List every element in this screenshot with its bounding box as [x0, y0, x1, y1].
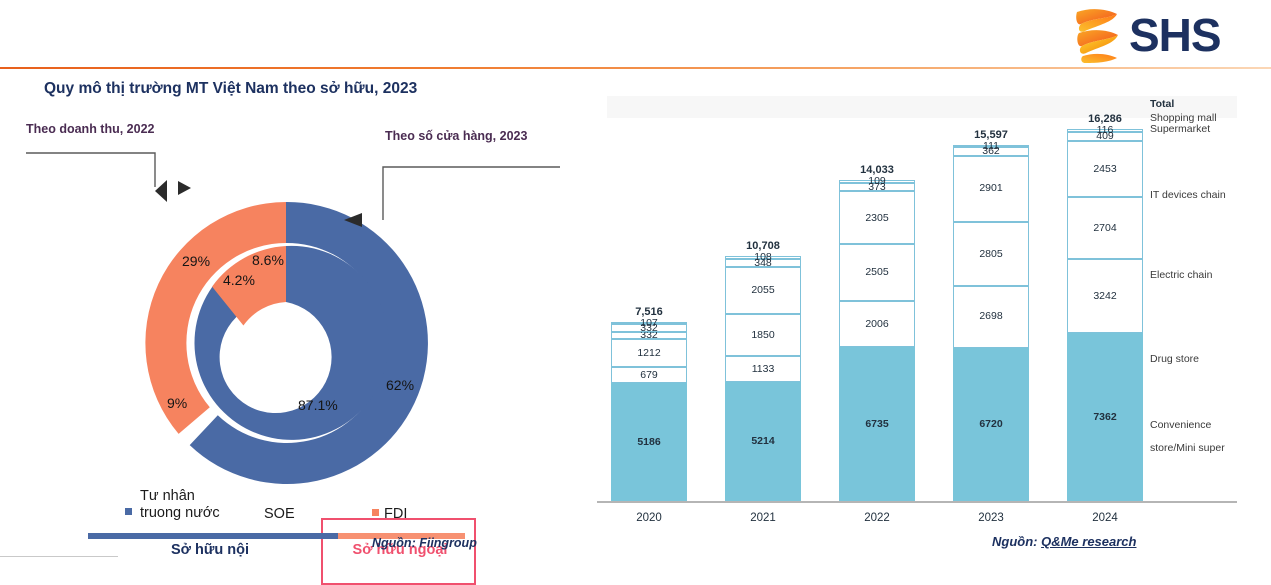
- pct-inner-soe: 4.2%: [223, 272, 255, 288]
- domestic-ownership-bar: [88, 533, 338, 539]
- leader-line-left: [26, 153, 155, 187]
- bar-segment-shopping-mall[interactable]: 116: [1067, 129, 1143, 132]
- bar-segment-electric-chain[interactable]: 2505: [839, 244, 915, 301]
- source-prefix: Nguồn:: [992, 534, 1041, 549]
- legend-private-line2: truong nước: [140, 505, 340, 522]
- bar-segment-value: 2704: [1093, 223, 1116, 234]
- leader-arrow-left-head: [178, 181, 191, 195]
- cat-label-convenience-line1: Convenience: [1150, 420, 1225, 432]
- legend-item-fdi: FDI: [384, 506, 407, 522]
- x-axis-tick-2021: 2021: [725, 512, 801, 524]
- bar-segment-drug-store[interactable]: 679: [611, 367, 687, 383]
- bar-segment-electric-chain[interactable]: 2704: [1067, 197, 1143, 259]
- bar-segment-value: 6735: [865, 419, 888, 430]
- bar-segment-value: 2055: [751, 285, 774, 296]
- bar-segment-value: 111: [983, 141, 999, 152]
- bar-segment-convenience-store-mini-super[interactable]: 6720: [953, 348, 1029, 501]
- bar-segment-value: 5186: [637, 437, 660, 448]
- bar-total-label: 14,033: [839, 164, 915, 176]
- source-link[interactable]: Q&Me research: [1041, 534, 1136, 549]
- donut-chart: 29% 8.6% 4.2% 9% 62% 87.1%: [0, 67, 585, 487]
- left-chart-source: Nguồn: Fiingroup: [372, 536, 477, 550]
- right-chart-source: Nguồn: Q&Me research: [992, 534, 1136, 549]
- cat-label-convenience-line2: store/Mini super: [1150, 443, 1225, 455]
- shs-ribbon-icon: [1073, 6, 1121, 64]
- bar-segment-value: 2305: [865, 213, 888, 224]
- bar-column-2020[interactable]: 51866791212332332107: [611, 88, 687, 501]
- cat-label-convenience: Convenience store/Mini super: [1150, 408, 1225, 466]
- bar-segment-value: 1850: [751, 330, 774, 341]
- bar-segment-it-devices-chain[interactable]: 2453: [1067, 141, 1143, 197]
- pct-outer-soe: 9%: [167, 395, 187, 411]
- bar-segment-value: 116: [1097, 125, 1114, 136]
- pct-inner-fdi: 8.6%: [252, 252, 284, 268]
- bar-segment-value: 5214: [751, 436, 774, 447]
- leader-arrow-left: [155, 180, 167, 202]
- right-chart-panel: 518667912123323321077,516202052141133185…: [585, 88, 1271, 562]
- legend-swatch-private: [125, 508, 132, 515]
- bar-segment-shopping-mall[interactable]: 109: [839, 180, 915, 182]
- bar-segment-it-devices-chain[interactable]: 2901: [953, 156, 1029, 222]
- bar-column-2021[interactable]: 5214113318502055348108: [725, 88, 801, 501]
- bar-segment-value: 2901: [979, 183, 1002, 194]
- bar-segment-value: 3242: [1093, 291, 1116, 302]
- bar-segment-value: 2698: [979, 311, 1002, 322]
- bar-total-label: 15,597: [953, 129, 1029, 141]
- brand-name: SHS: [1129, 6, 1221, 64]
- cat-label-electric-chain: Electric chain: [1150, 270, 1212, 282]
- leader-line-right: [383, 167, 560, 220]
- bar-segment-convenience-store-mini-super[interactable]: 5214: [725, 382, 801, 501]
- cat-label-drug-store: Drug store: [1150, 354, 1199, 366]
- legend-item-soe: SOE: [264, 506, 295, 522]
- bar-segment-value: 6720: [979, 419, 1002, 430]
- pct-outer-fdi: 29%: [182, 253, 210, 269]
- bar-segment-convenience-store-mini-super[interactable]: 6735: [839, 347, 915, 501]
- cat-label-supermarket: Supermarket: [1150, 124, 1210, 136]
- bar-segment-value: 1212: [637, 348, 660, 359]
- cat-label-total: Total: [1150, 99, 1174, 111]
- bar-total-label: 10,708: [725, 240, 801, 252]
- bar-segment-value: 109: [868, 176, 886, 187]
- legend-item-private: Tư nhân truong nước: [140, 488, 340, 522]
- x-axis-tick-2022: 2022: [839, 512, 915, 524]
- bar-segment-drug-store[interactable]: 3242: [1067, 259, 1143, 333]
- x-axis-tick-2023: 2023: [953, 512, 1029, 524]
- x-axis-tick-2020: 2020: [611, 512, 687, 524]
- left-chart-legend: Tư nhân truong nước SOE FDI Sở hữu nội S…: [0, 482, 585, 582]
- cat-label-it-devices: IT devices chain: [1150, 190, 1226, 202]
- legend-swatch-fdi: [372, 509, 379, 516]
- bar-segment-value: 2006: [865, 319, 888, 330]
- bar-column-2022[interactable]: 6735200625052305373109: [839, 88, 915, 501]
- bar-segment-it-devices-chain[interactable]: 2305: [839, 191, 915, 244]
- legend-private-line1: Tư nhân: [140, 488, 340, 505]
- left-chart-panel: Quy mô thị trường MT Việt Nam theo sở hữ…: [0, 67, 585, 562]
- bar-segment-drug-store[interactable]: 2698: [953, 286, 1029, 348]
- bar-segment-convenience-store-mini-super[interactable]: 7362: [1067, 333, 1143, 501]
- bar-segment-value: 2505: [865, 267, 888, 278]
- bar-segment-value: 679: [640, 370, 658, 381]
- bar-segment-shopping-mall[interactable]: 107: [611, 322, 687, 324]
- shs-logo: SHS: [1073, 4, 1253, 66]
- bar-segment-drug-store[interactable]: 2006: [839, 301, 915, 347]
- bar-total-label: 16,286: [1067, 113, 1143, 125]
- bar-segment-it-devices-chain[interactable]: 2055: [725, 267, 801, 314]
- bar-segment-value: 1133: [752, 364, 775, 375]
- bar-segment-electric-chain[interactable]: 2805: [953, 222, 1029, 286]
- bar-segment-value: 2805: [979, 249, 1002, 260]
- bar-total-label: 7,516: [611, 306, 687, 318]
- bar-segment-electric-chain[interactable]: 1212: [611, 339, 687, 367]
- bar-segment-value: 7362: [1093, 412, 1116, 423]
- x-axis-tick-2024: 2024: [1067, 512, 1143, 524]
- x-axis-line: [597, 501, 1237, 503]
- bar-segment-drug-store[interactable]: 1133: [725, 356, 801, 382]
- bar-column-2023[interactable]: 6720269828052901362111: [953, 88, 1029, 501]
- bar-segment-value: 107: [640, 318, 658, 329]
- pct-inner-private: 87.1%: [298, 397, 338, 413]
- bar-segment-electric-chain[interactable]: 1850: [725, 314, 801, 356]
- bar-segment-convenience-store-mini-super[interactable]: 5186: [611, 383, 687, 501]
- bar-column-2024[interactable]: 7362324227042453409116: [1067, 88, 1143, 501]
- footer-rule: [0, 556, 118, 557]
- bar-segment-value: 108: [754, 252, 772, 263]
- pct-outer-private: 62%: [386, 377, 414, 393]
- domestic-ownership-label: Sở hữu nội: [120, 542, 300, 558]
- bar-segment-value: 2453: [1093, 164, 1116, 175]
- bar-segment-shopping-mall[interactable]: 108: [725, 256, 801, 258]
- bar-segment-shopping-mall[interactable]: 111: [953, 145, 1029, 148]
